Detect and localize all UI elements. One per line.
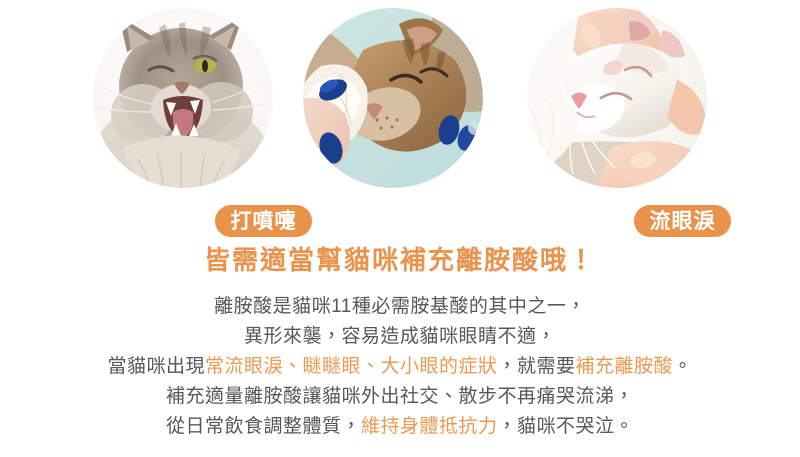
plain-text: 當貓咪出現: [107, 356, 205, 377]
plain-text: 異形來襲，容易造成貓咪眼睛不適，: [244, 326, 556, 347]
symptom-badge-watery-eyes: 流眼淚: [634, 205, 731, 237]
photo-watery-eyes-cat: [303, 8, 483, 188]
plain-text: 補充適量離胺酸讓貓咪外出社交、散步不再痛哭流涕，: [166, 386, 634, 407]
body-paragraph: 離胺酸是貓咪11種必需胺基酸的其中之一， 異形來襲，容易造成貓咪眼睛不適， 當貓…: [0, 292, 800, 442]
symptom-card-sneezing: 打噴嚏: [93, 8, 273, 188]
symptom-card-low-muscle: 肌肉量不足: [527, 8, 707, 188]
body-line: 離胺酸是貓咪11種必需胺基酸的其中之一，: [0, 292, 800, 322]
photo-sneezing-cat: [93, 8, 273, 188]
symptom-badge-sneezing: 打噴嚏: [215, 205, 312, 237]
highlight-text: 維持身體抵抗力: [361, 416, 498, 437]
infographic-page: 打噴嚏: [0, 0, 800, 457]
body-line: 從日常飲食調整體質，維持身體抵抗力，貓咪不哭泣。: [0, 412, 800, 442]
page-title: 皆需適當幫貓咪補充離胺酸哦！: [0, 243, 800, 277]
body-line: 當貓咪出現常流眼淚、瞇瞇眼、大小眼的症狀，就需要補充離胺酸。: [0, 352, 800, 382]
highlight-text: 常流眼淚、瞇瞇眼、大小眼的症狀: [205, 356, 498, 377]
symptom-card-watery-eyes: 流眼淚: [303, 8, 483, 188]
plain-text: ，貓咪不哭泣。: [498, 416, 635, 437]
plain-text: 從日常飲食調整體質，: [166, 416, 361, 437]
body-line: 異形來襲，容易造成貓咪眼睛不適，: [0, 322, 800, 352]
photo-white-cat-held: [527, 8, 707, 188]
body-line: 補充適量離胺酸讓貓咪外出社交、散步不再痛哭流涕，: [0, 382, 800, 412]
highlight-text: 補充離胺酸: [576, 356, 674, 377]
plain-text: 。: [673, 356, 693, 377]
plain-text: ，就需要: [497, 356, 575, 377]
plain-text: 離胺酸是貓咪11種必需胺基酸的其中之一，: [214, 296, 586, 317]
symptom-photo-row: 打噴嚏: [0, 0, 800, 240]
